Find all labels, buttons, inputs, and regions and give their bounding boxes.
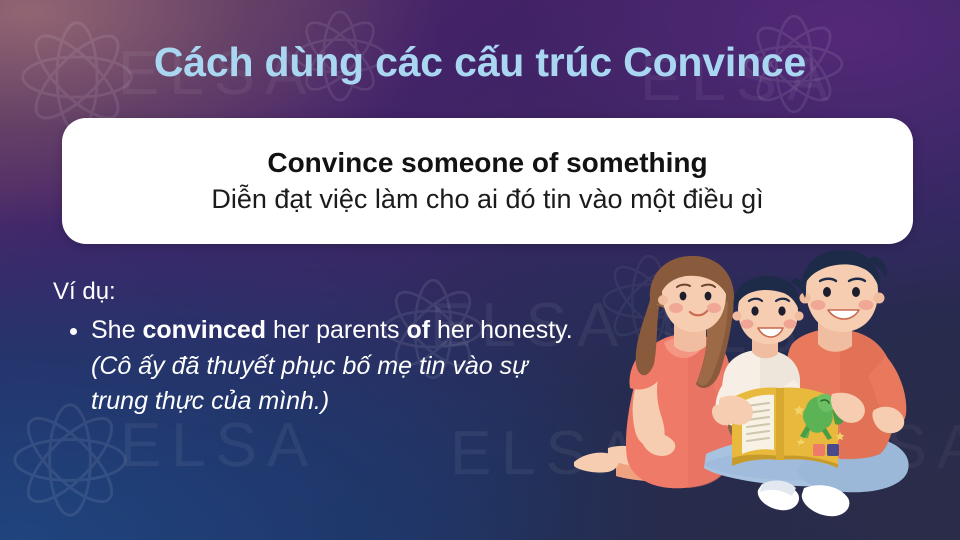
structure-card: Convince someone of something Diễn đạt v… xyxy=(62,118,913,244)
segment-text: She xyxy=(91,316,142,344)
slide-canvas: ELSA ELSA ELSA ELSA ELSA ELSA ELSA Cách … xyxy=(0,0,960,540)
segment-text: her parents xyxy=(266,316,406,344)
page-title: Cách dùng các cấu trúc Convince xyxy=(0,40,960,85)
list-item: She convinced her parents of her honesty… xyxy=(91,313,583,420)
eight-petal-flower-icon xyxy=(600,252,698,350)
family-reading-book-illustration xyxy=(556,248,960,540)
example-label: Ví dụ: xyxy=(53,276,583,307)
card-subtitle: Diễn đạt việc làm cho ai đó tin vào một … xyxy=(211,183,763,216)
brand-watermark: ELSA xyxy=(120,410,318,481)
segment-text: of xyxy=(406,316,430,344)
segment-text: (Cô ấy đã thuyết phục bố mẹ tin vào sự t… xyxy=(91,352,528,416)
brand-watermark: ELSA xyxy=(790,412,960,483)
example-block: Ví dụ: She convinced her parents of her … xyxy=(53,276,583,420)
segment-text: her honesty. xyxy=(430,316,573,344)
segment-text: convinced xyxy=(142,316,266,344)
brand-watermark: ELSA xyxy=(660,296,858,367)
card-title: Convince someone of something xyxy=(267,146,707,180)
brand-watermark: ELSA xyxy=(450,418,648,489)
example-list: She convinced her parents of her honesty… xyxy=(53,313,583,420)
